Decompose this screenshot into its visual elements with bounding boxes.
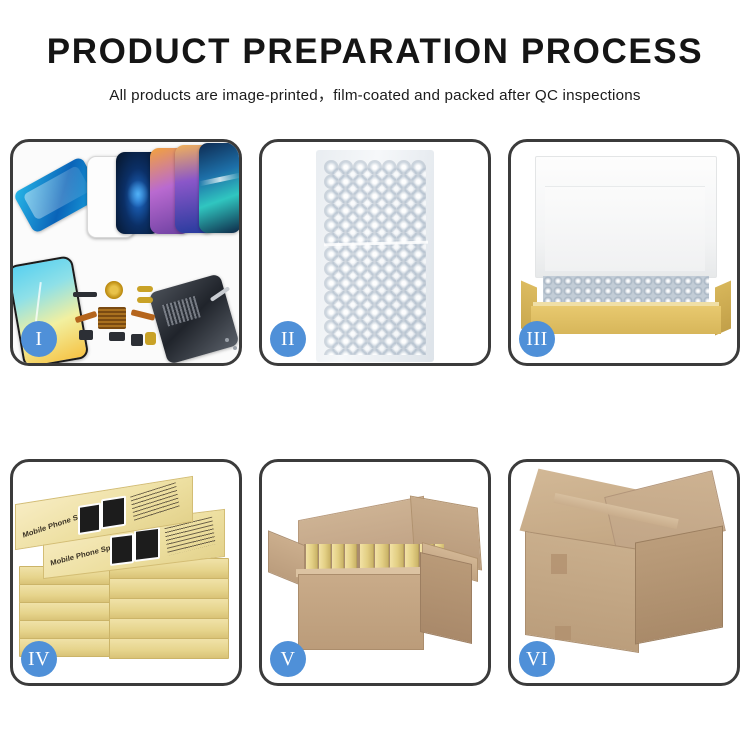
tape-tab-upper (551, 554, 567, 574)
tape-tab-lower (555, 626, 571, 640)
step-badge-3: III (519, 321, 555, 357)
step-badge-1: I (21, 321, 57, 357)
page-header: PRODUCT PREPARATION PROCESS All products… (0, 0, 750, 105)
step-badge-4: IV (21, 641, 57, 677)
bubble-grid-secondary (331, 167, 426, 355)
retail-box-stack-item (109, 598, 229, 619)
screw-part-2 (233, 346, 237, 350)
box-artwork-screen-a (110, 533, 134, 566)
retail-box-stack-item (19, 602, 113, 621)
step-badge-6: VI (519, 641, 555, 677)
retail-box-stack-item (19, 620, 113, 639)
step-card-1[interactable]: I (10, 139, 242, 366)
retail-box-stack-item (19, 584, 113, 603)
step-badge-2: II (270, 321, 306, 357)
box-artwork-screen-b (134, 527, 160, 562)
step-card-4[interactable]: Mobile Phone Spare Parts Mobile Phone Sp… (10, 459, 242, 686)
sim-tray-part (145, 332, 156, 345)
step-card-6[interactable]: VI (508, 459, 740, 686)
box-front-kraft (531, 306, 721, 334)
earpiece-speaker-part (73, 292, 97, 297)
box-artwork-screen-c (78, 502, 101, 535)
step-card-2[interactable]: II (259, 139, 491, 366)
gold-connector-part-2 (137, 297, 153, 303)
box-artwork-screen-d (101, 496, 126, 530)
retail-box-stack-item (109, 638, 229, 659)
box-spec-lines-top (130, 482, 180, 521)
speaker-mesh-part (98, 307, 126, 329)
carton-front-face (298, 574, 424, 650)
small-ic-part (79, 330, 93, 340)
carton-side-face (420, 552, 472, 644)
step-badge-5: V (270, 641, 306, 677)
page-subtitle: All products are image-printed，film-coat… (0, 83, 750, 105)
bubble-wrap-sleeve (316, 150, 434, 362)
retail-box-stack-item (109, 578, 229, 599)
step-card-5[interactable]: V (259, 459, 491, 686)
carton-front-face-sealed (525, 531, 639, 653)
page-title: PRODUCT PREPARATION PROCESS (0, 34, 750, 69)
gold-connector-part (137, 286, 153, 292)
box-lid-inner-face (545, 186, 705, 271)
carton-side-face-sealed (635, 525, 723, 644)
camera-module-part (105, 281, 123, 299)
screw-part (225, 338, 229, 342)
flex-cable-part-2 (131, 309, 156, 321)
battery-connector-part (109, 332, 125, 341)
step-card-3[interactable]: III (508, 139, 740, 366)
retail-box-stack-item (109, 618, 229, 639)
screen-highlight (199, 173, 239, 187)
vibrator-motor-part (131, 334, 143, 346)
process-steps-grid: I II III (10, 139, 740, 686)
phone-display-teal (199, 143, 239, 233)
